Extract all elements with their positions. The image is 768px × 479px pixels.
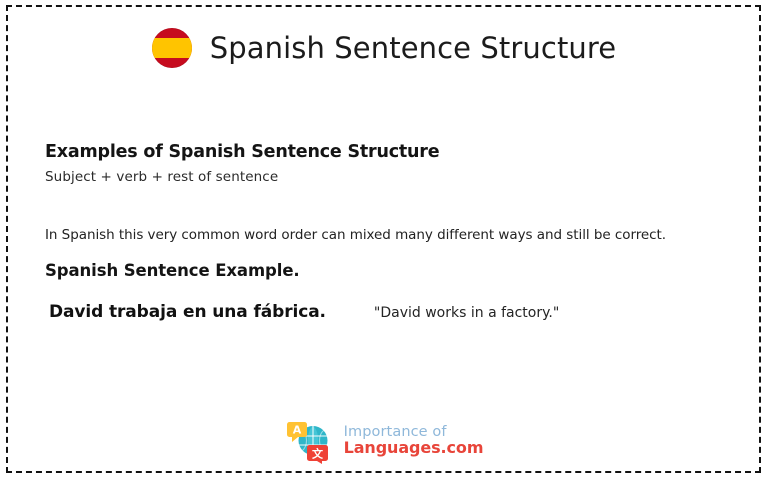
section-heading: Examples of Spanish Sentence Structure [45, 143, 721, 162]
flag-yellow-band [152, 38, 192, 58]
svg-text:A: A [292, 424, 301, 437]
main-content: Examples of Spanish Sentence Structure S… [45, 143, 721, 322]
explanation-paragraph: In Spanish this very common word order c… [45, 227, 721, 243]
header: Spanish Sentence Structure [0, 28, 768, 68]
example-row: David trabaja en una fábrica. "David wor… [49, 302, 721, 322]
svg-text:文: 文 [312, 447, 324, 461]
translation-globe-logo-icon: A 文 [285, 418, 335, 464]
page-title: Spanish Sentence Structure [210, 34, 616, 63]
example-spanish-sentence: David trabaja en una fábrica. [49, 302, 326, 322]
spain-flag-circle-icon [152, 28, 192, 68]
example-heading: Spanish Sentence Example. [45, 262, 721, 280]
slide-canvas: Spanish Sentence Structure Examples of S… [0, 0, 768, 479]
site-logo[interactable]: A 文 Importance of Languages.com [0, 418, 768, 464]
logo-wordmark: Importance of Languages.com [344, 425, 484, 456]
example-english-translation: "David works in a factory." [374, 305, 559, 321]
sentence-formula: Subject + verb + rest of sentence [45, 170, 721, 185]
brand-line-2: Languages.com [344, 440, 484, 456]
